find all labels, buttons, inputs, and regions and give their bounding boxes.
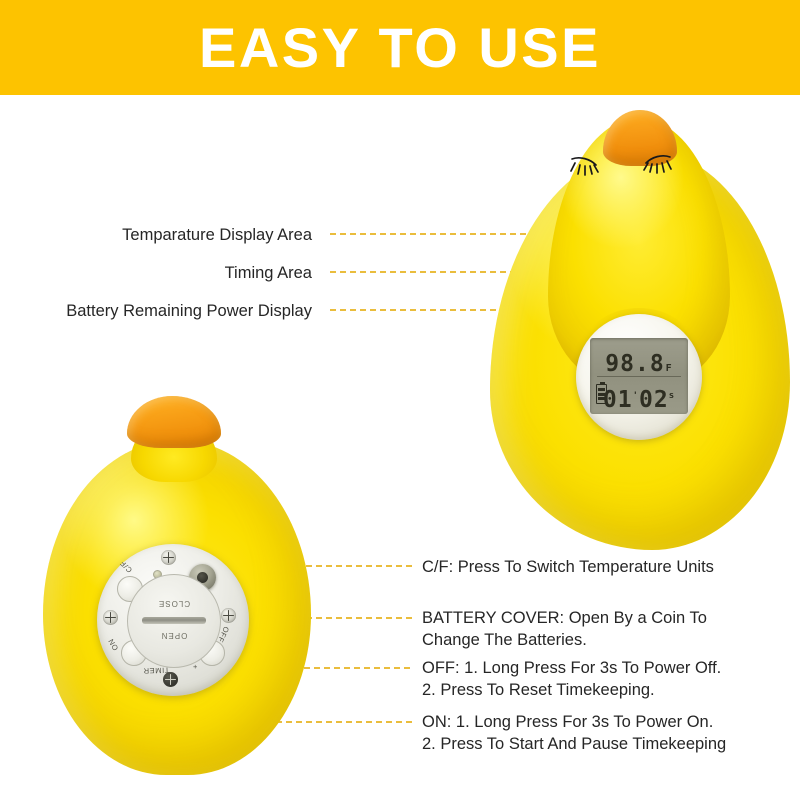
callout-on-line2: 2. Press To Start And Pause Timekeeping (422, 734, 726, 756)
duck-beak-back (127, 396, 221, 448)
lcd-seconds-value: 02 (639, 389, 669, 412)
callout-temperature-display-area: Temparature Display Area (0, 226, 312, 246)
callout-battery-cover-line2: Change The Batteries. (422, 630, 707, 652)
callout-cf-line1: C/F: Press To Switch Temperature Units (422, 558, 714, 576)
callout-off: OFF: 1. Long Press For 3s To Power Off. … (422, 658, 721, 702)
battery-cover[interactable]: CLOSE OPEN (127, 574, 221, 668)
callout-timing-area: Timing Area (0, 264, 312, 284)
panel-screw-left (103, 610, 118, 625)
panel-screw-right (221, 608, 236, 623)
lcd-seconds-mark: s (669, 392, 675, 401)
infographic-canvas: EASY TO USE (0, 0, 800, 800)
callout-cf: C/F: Press To Switch Temperature Units (422, 557, 714, 579)
callout-on: ON: 1. Long Press For 3s To Power On. 2.… (422, 712, 726, 756)
duck-thermometer-back: C/F ON OFF TIMER + - CLOSE OPEN (35, 392, 325, 784)
duck-eye-left-icon (570, 154, 604, 180)
lcd-screen: 98.8 F 01 ' 02 s (590, 338, 688, 414)
page-title: EASY TO USE (199, 20, 601, 76)
panel-screw-top (161, 550, 176, 565)
cf-button-label: C/F (118, 558, 134, 574)
lcd-minutes-value: 01 (603, 389, 633, 412)
header-banner: EASY TO USE (0, 0, 800, 95)
on-button-label: ON (106, 637, 120, 652)
battery-cover-close-label: CLOSE (128, 599, 220, 608)
lcd-temperature-row: 98.8 F (590, 341, 688, 376)
callout-on-line1: ON: 1. Long Press For 3s To Power On. (422, 713, 713, 731)
lcd-temperature-unit: F (666, 364, 673, 374)
lcd-bezel: 98.8 F 01 ' 02 s (576, 314, 702, 440)
callout-battery-cover-line1: BATTERY COVER: Open By a Coin To (422, 609, 707, 627)
lcd-timer-row: 01 ' 02 s (590, 378, 688, 412)
duck-eye-right-icon (638, 152, 672, 178)
lcd-temperature-value: 98.8 (605, 353, 664, 376)
coin-slot[interactable] (142, 617, 206, 624)
battery-cover-open-label: OPEN (128, 631, 220, 640)
callout-battery-remaining-power-display: Battery Remaining Power Display (0, 302, 312, 322)
callout-off-line1: OFF: 1. Long Press For 3s To Power Off. (422, 659, 721, 677)
control-panel: C/F ON OFF TIMER + - CLOSE OPEN (97, 544, 249, 696)
callout-battery-cover: BATTERY COVER: Open By a Coin To Change … (422, 608, 707, 652)
callout-off-line2: 2. Press To Reset Timekeeping. (422, 680, 721, 702)
duck-thermometer-front: 98.8 F 01 ' 02 s (470, 110, 800, 560)
